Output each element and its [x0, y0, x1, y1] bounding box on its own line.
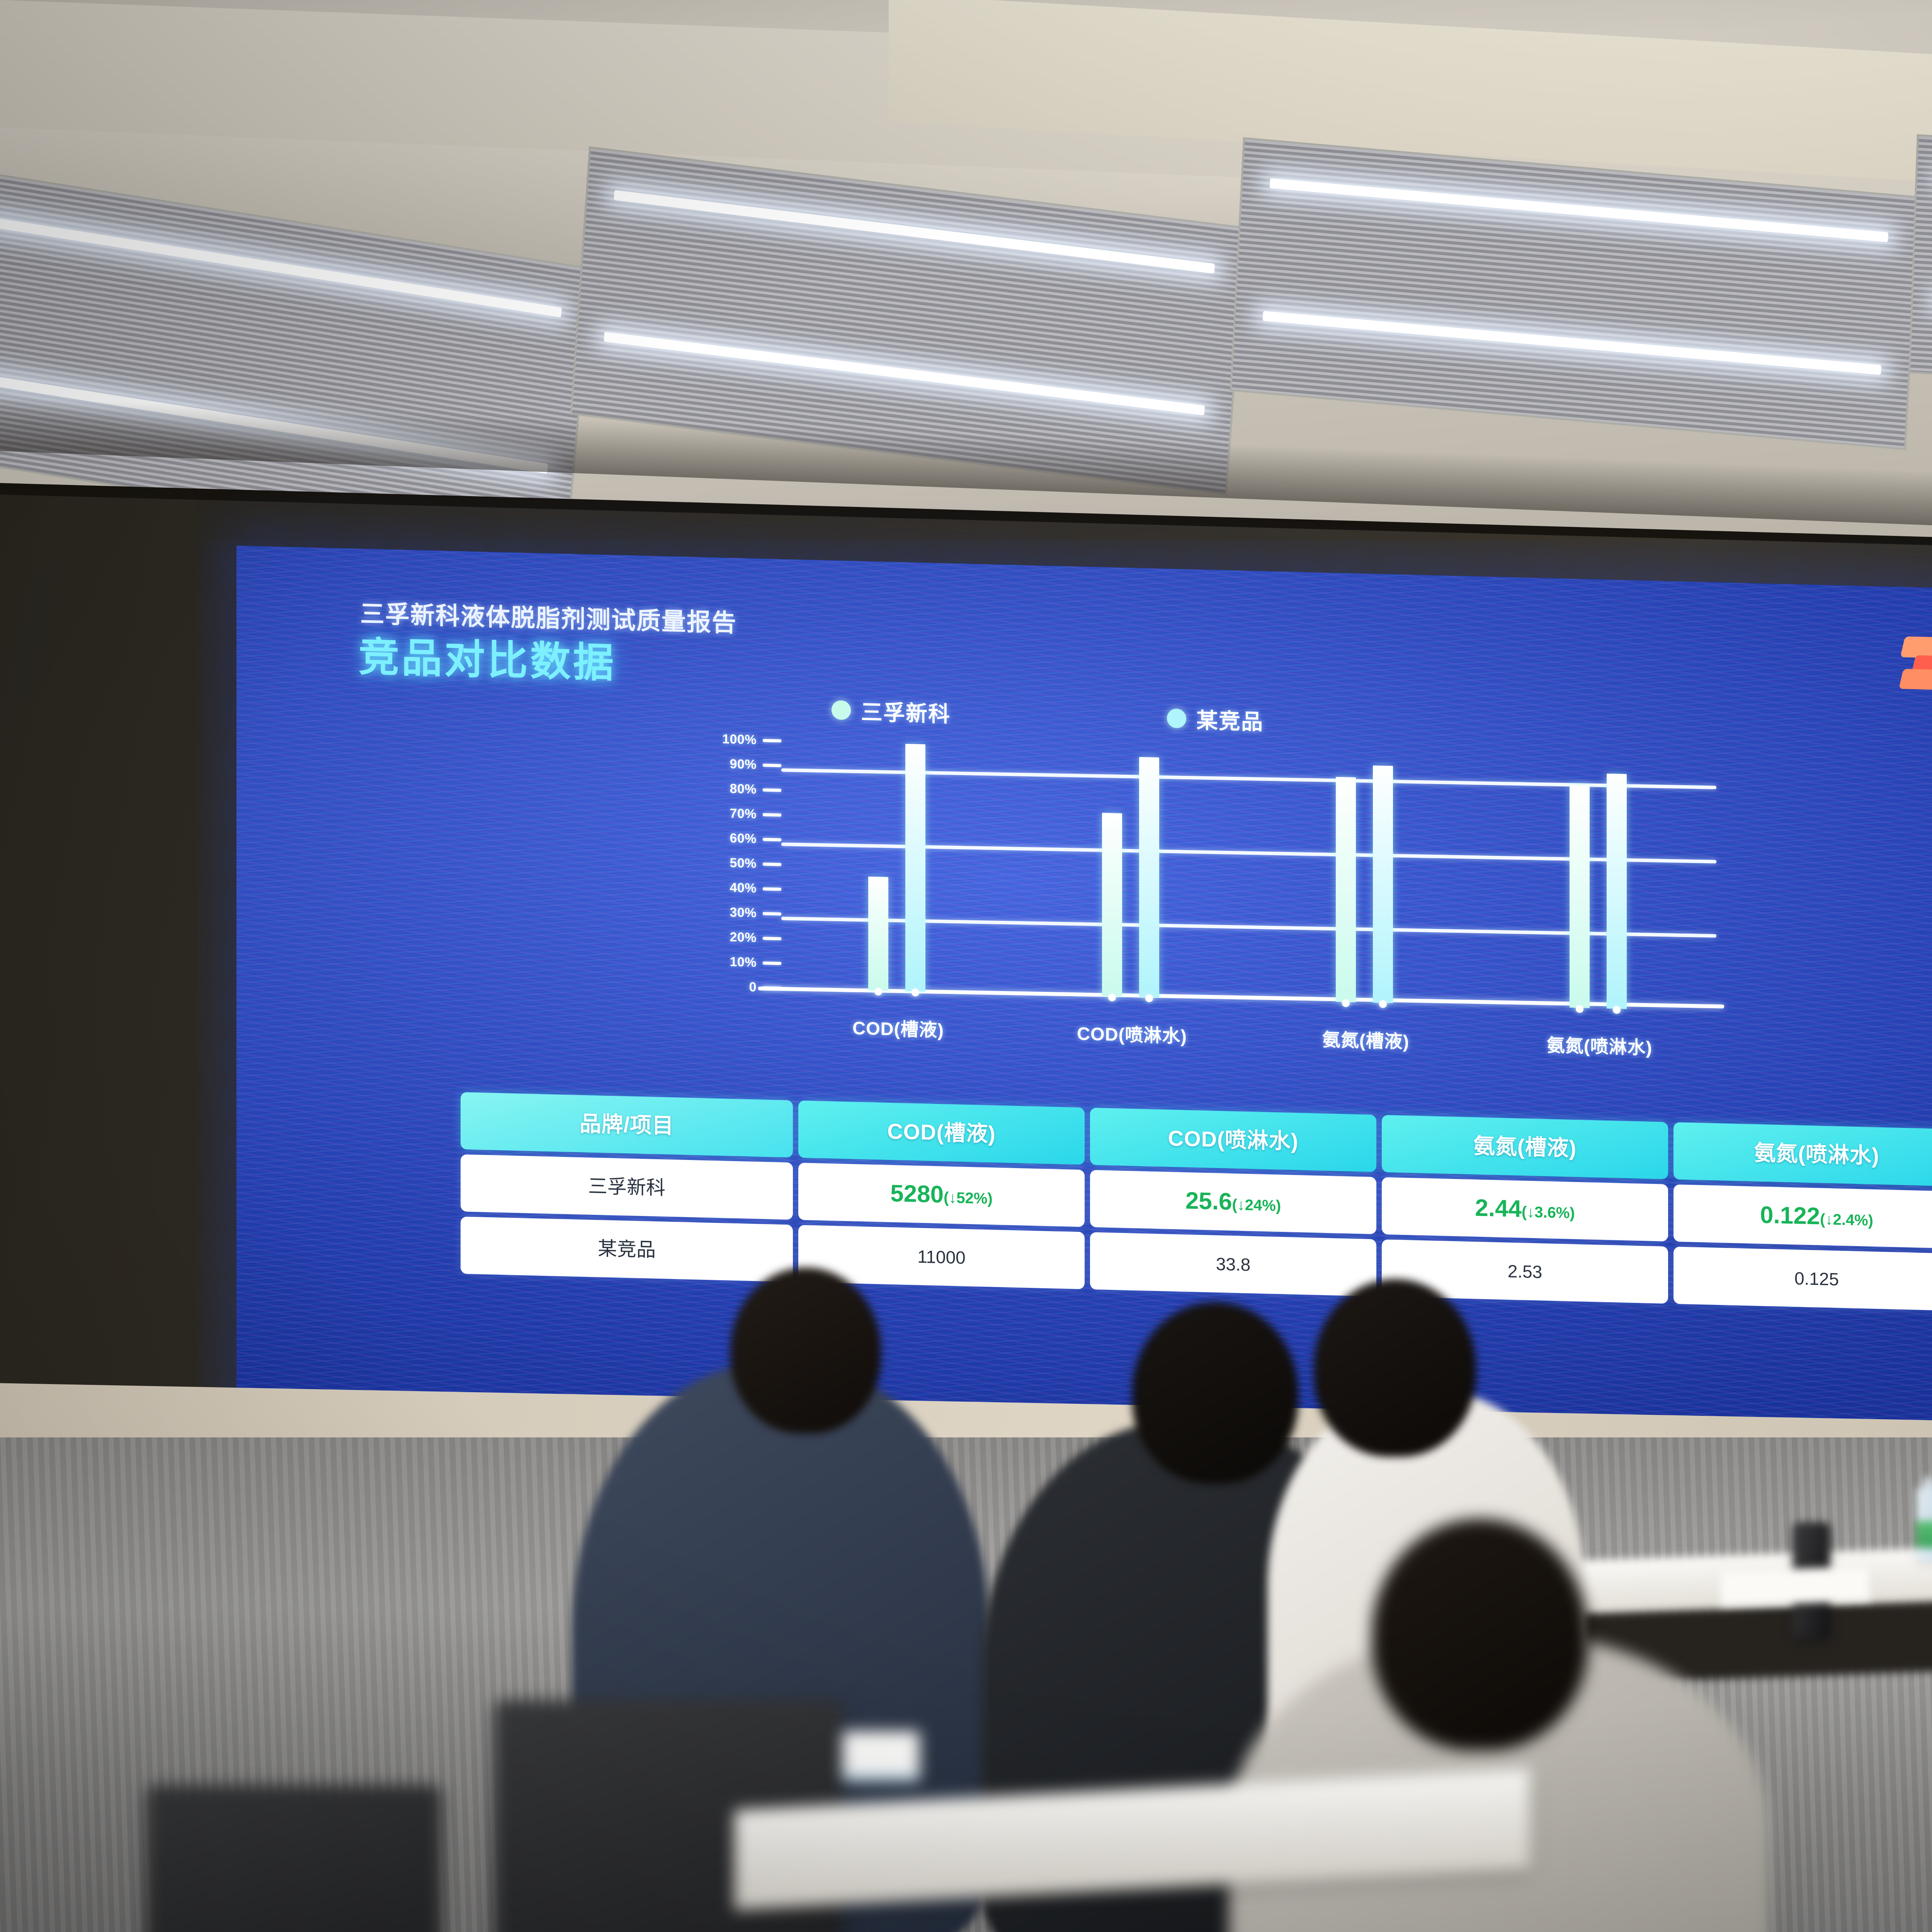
bar — [868, 876, 888, 991]
y-tick-label: 90% — [730, 757, 757, 772]
audience-member-head — [1132, 1302, 1298, 1484]
plot-area — [781, 741, 1716, 1011]
y-axis-tick: 70% — [730, 806, 781, 822]
bar — [905, 744, 925, 992]
bar — [1139, 757, 1159, 997]
audience-member-head — [1372, 1519, 1588, 1750]
audience-member-head — [730, 1267, 881, 1434]
x-axis-label: COD(喷淋水) — [1077, 1019, 1187, 1048]
table-header-cell: COD(喷淋水) — [1090, 1108, 1376, 1172]
y-axis-tick: 20% — [730, 930, 781, 946]
legend-label: 三孚新科 — [861, 695, 951, 728]
y-tick-mark — [763, 838, 781, 841]
brand-logo: 三孚新科 SANFU TECH — [1900, 633, 1932, 696]
table-cell: 33.8 — [1090, 1232, 1376, 1296]
table-cell: 5280(↓52%) — [798, 1163, 1085, 1227]
y-tick-mark — [763, 887, 781, 891]
table-cell-value: 0.122(↓2.4%) — [1760, 1202, 1873, 1231]
table-cell: 0.125 — [1673, 1247, 1932, 1311]
table-header-cell: 品牌/项目 — [461, 1092, 793, 1157]
name-card — [842, 1731, 920, 1781]
y-axis-tick: 30% — [730, 905, 781, 921]
table-cell-value: 25.6(↓24%) — [1185, 1188, 1281, 1216]
y-tick-mark — [763, 862, 781, 866]
table-cell-value: 2.53 — [1508, 1261, 1543, 1282]
table-header-cell: COD(槽液) — [798, 1100, 1085, 1165]
y-tick-label: 0 — [749, 980, 757, 995]
led-video-wall[interactable]: 三孚新科液体脱脂剂测试质量报告 竞品对比数据 三孚新科 SANFU TECH 三… — [236, 546, 1932, 1494]
y-tick-mark — [763, 937, 781, 940]
bar — [1607, 774, 1627, 1009]
y-tick-mark — [763, 764, 781, 767]
y-axis: 100%90%80%70%60%50%40%30%20%10%0 — [665, 738, 781, 988]
paper-stack — [1719, 1566, 1871, 1606]
x-axis-labels: COD(槽液)COD(喷淋水)氨氮(槽液)氨氮(喷淋水) — [781, 1011, 1716, 1065]
y-tick-label: 40% — [730, 880, 757, 896]
y-axis-tick: 100% — [722, 732, 781, 748]
legend-label: 某竞品 — [1196, 703, 1264, 736]
table-header-cell: 氨氮(喷淋水) — [1673, 1122, 1932, 1186]
table-cell: 25.6(↓24%) — [1090, 1170, 1376, 1234]
table-cell-value: 2.44(↓3.6%) — [1475, 1195, 1575, 1224]
water-bottle — [1917, 1488, 1932, 1561]
y-tick-mark — [763, 788, 781, 792]
comparison-table: 品牌/项目COD(槽液)COD(喷淋水)氨氮(槽液)氨氮(喷淋水)三孚新科528… — [461, 1092, 1932, 1316]
y-axis-tick: 60% — [730, 831, 781, 847]
table-row-label: 三孚新科 — [588, 1175, 665, 1199]
bar-chart: 100%90%80%70%60%50%40%30%20%10%0 COD(槽液)… — [665, 738, 1716, 1050]
y-tick-label: 30% — [730, 905, 757, 921]
y-tick-label: 20% — [730, 930, 757, 946]
conference-room-scene: 三孚新科液体脱脂剂测试质量报告 竞品对比数据 三孚新科 SANFU TECH 三… — [0, 0, 1932, 1932]
legend-dot-icon — [1167, 708, 1186, 728]
bar — [1570, 785, 1590, 1008]
table-row-label: 某竞品 — [598, 1238, 656, 1261]
x-axis-label: 氨氮(槽液) — [1322, 1025, 1409, 1054]
y-axis-tick: 80% — [730, 781, 781, 798]
y-tick-label: 100% — [722, 732, 757, 748]
audience-member-head — [1314, 1279, 1476, 1457]
table-cell-value: 0.125 — [1794, 1269, 1839, 1289]
table-cell: 2.44(↓3.6%) — [1382, 1177, 1668, 1241]
legend-dot-icon — [832, 700, 851, 720]
y-tick-label: 80% — [730, 781, 757, 797]
y-axis-tick: 90% — [730, 757, 781, 773]
x-axis-label: 氨氮(喷淋水) — [1547, 1030, 1652, 1060]
chart-legend: 三孚新科 某竞品 — [832, 694, 1264, 736]
table-cell: 0.122(↓2.4%) — [1673, 1184, 1932, 1248]
y-axis-tick: 40% — [730, 880, 781, 896]
y-axis-tick: 10% — [730, 954, 781, 971]
y-tick-label: 50% — [730, 855, 757, 871]
y-tick-label: 10% — [730, 954, 757, 970]
bar — [1373, 765, 1393, 1003]
y-tick-mark — [763, 961, 781, 965]
y-tick-mark — [763, 813, 781, 816]
y-axis-tick: 50% — [730, 855, 781, 872]
sanfu-mark-icon — [1900, 633, 1932, 693]
page-title: 竞品对比数据 — [359, 624, 616, 689]
presentation-slide: 三孚新科液体脱脂剂测试质量报告 竞品对比数据 三孚新科 SANFU TECH 三… — [236, 546, 1932, 1494]
x-axis-label: COD(槽液) — [852, 1013, 944, 1042]
bar — [1336, 777, 1356, 1002]
table-header-cell: 氨氮(槽液) — [1382, 1115, 1668, 1179]
table-cell: 某竞品 — [461, 1216, 793, 1282]
y-tick-mark — [763, 739, 781, 742]
table-cell: 三孚新科 — [461, 1154, 793, 1219]
legend-item-competitor: 某竞品 — [1167, 702, 1264, 736]
table-cell-value: 5280(↓52%) — [890, 1180, 993, 1209]
table-cell-value: 33.8 — [1216, 1254, 1251, 1275]
y-tick-label: 70% — [730, 806, 757, 822]
legend-item-sanfu: 三孚新科 — [832, 694, 951, 728]
chair-back — [147, 1785, 440, 1932]
table-cell-value: 11000 — [917, 1247, 966, 1267]
bar — [1102, 813, 1122, 997]
y-tick-mark — [763, 912, 781, 915]
y-tick-label: 60% — [730, 831, 757, 847]
